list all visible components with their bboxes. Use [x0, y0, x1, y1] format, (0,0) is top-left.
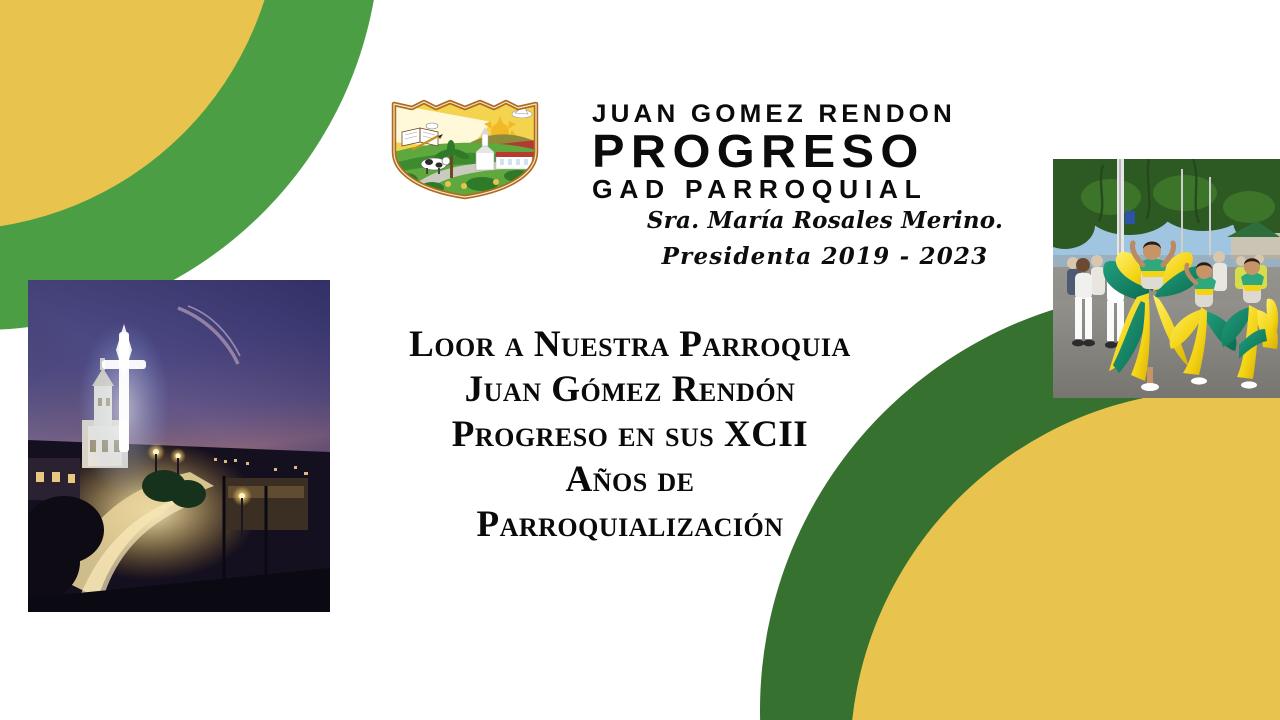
- wordmark: JUAN GOMEZ RENDON PROGRESO GAD PARROQUIA…: [592, 96, 1062, 204]
- president-credit: Sra. María Rosales Merino. Presidenta 20…: [600, 204, 1050, 276]
- president-name: Sra. María Rosales Merino.: [600, 204, 1050, 238]
- page-title: Loor a Nuestra Parroquia Juan Gómez Rend…: [340, 322, 920, 547]
- wordmark-line-3: GAD PARROQUIAL: [592, 174, 1071, 204]
- photo-church-night-image: [28, 280, 330, 612]
- title-line-3: Progreso en sus XCII: [340, 412, 920, 457]
- wordmark-line-2: PROGRESO: [592, 128, 1090, 174]
- title-line-2: Juan Gómez Rendón: [340, 367, 920, 412]
- coat-of-arms-icon: [372, 96, 558, 202]
- title-line-5: Parroquialización: [340, 502, 920, 547]
- photo-folk-dancers: [1053, 159, 1280, 398]
- title-line-4: Años de: [340, 457, 920, 502]
- presentation-slide: JUAN GOMEZ RENDON PROGRESO GAD PARROQUIA…: [0, 0, 1280, 720]
- organization-logo: JUAN GOMEZ RENDON PROGRESO GAD PARROQUIA…: [372, 96, 1062, 202]
- wordmark-line-1: JUAN GOMEZ RENDON: [592, 100, 1081, 128]
- title-line-1: Loor a Nuestra Parroquia: [340, 322, 920, 367]
- photo-church-night: [28, 280, 330, 612]
- president-term: Presidenta 2019 - 2023: [600, 238, 1050, 276]
- photo-folk-dancers-image: [1053, 159, 1280, 398]
